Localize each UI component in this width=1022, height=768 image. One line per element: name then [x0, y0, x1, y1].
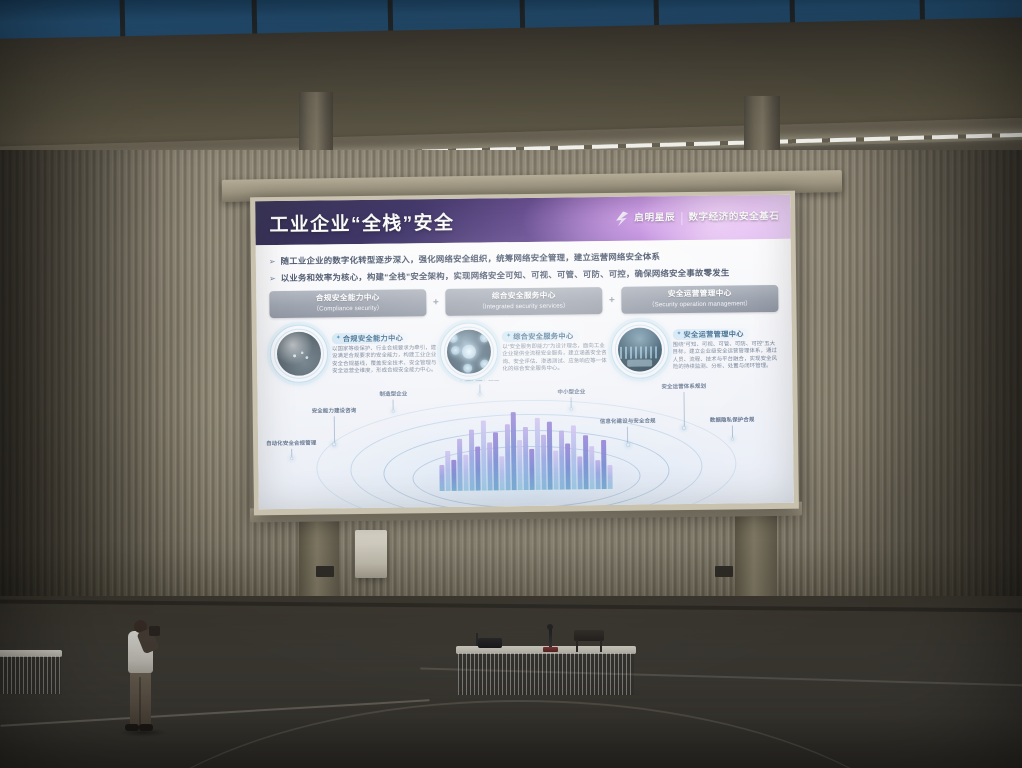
bullet-arrow-icon: ➢: [269, 273, 276, 285]
city-pin-label: 自动化安全合规管理: [266, 441, 316, 449]
pin-stem: [334, 416, 335, 442]
cluster-description: 以“安全服务即能力”为设计理念，面向工业企业提供全流程安全服务，建立涵盖安全咨询…: [502, 342, 609, 374]
pin-dot: [392, 410, 395, 413]
city-building: [445, 451, 450, 491]
city-building: [535, 418, 541, 490]
floor-sign-right: [715, 566, 733, 577]
microphone-small: [476, 633, 478, 646]
brand-divider: [681, 212, 682, 225]
city-pin: 安全运营体系规划: [661, 384, 706, 431]
slide-title: 工业企业“全栈”安全: [269, 207, 454, 236]
cluster-text-block: ✦ 合规安全能力中心 以国家等级保护、行业合规要求为牵引，建设满足合规要求的安全…: [332, 323, 439, 376]
speaker-cabinet: [355, 530, 387, 578]
pillar-title-en: （Security operation management）: [623, 299, 776, 310]
network-node: [480, 333, 489, 342]
chair-leg: [600, 640, 602, 652]
cluster-label-text: 安全运营管理中心: [683, 329, 743, 339]
pin-dot: [626, 443, 630, 447]
cluster-text-block: ✦ 综合安全服务中心 以“安全服务即能力”为设计理念，面向工业企业提供全流程安全…: [502, 321, 609, 374]
table-skirt: [0, 656, 61, 694]
projection-screen-frame: 工业企业“全栈”安全 启明星辰 数字经济的安全基石 ➢ 随工业企业的数字化转型逐…: [250, 191, 799, 516]
city-pin-label: 制造型企业: [379, 391, 407, 398]
city-pin: 安全能力建设咨询: [312, 408, 357, 447]
pin-stem: [627, 427, 628, 443]
pin-stem: [571, 397, 572, 407]
chair-leg: [576, 640, 578, 652]
pillar-title-en: （Integrated security services）: [447, 301, 600, 312]
pillar-title-cn: 安全运营管理中心: [623, 288, 776, 300]
bullet-list: ➢ 随工业企业的数字化转型逐步深入，强化网络安全组织，统筹网络安全管理，建立运营…: [269, 249, 778, 285]
city-pin: 自动化安全合规管理: [266, 441, 317, 461]
city-building: [505, 424, 511, 490]
city-building: [601, 440, 607, 489]
projection-screen: 工业企业“全栈”安全 启明星辰 数字经济的安全基石 ➢ 随工业企业的数字化转型逐…: [255, 195, 794, 510]
pin-dot: [570, 407, 573, 410]
city-pin-label: 数据隐私保护合规: [710, 417, 755, 425]
venustech-logo-icon: [615, 211, 628, 226]
person-shoe: [125, 724, 139, 731]
city-building: [559, 431, 565, 490]
city-building: [577, 456, 582, 489]
city-building: [523, 427, 529, 490]
pin-dot: [731, 437, 734, 440]
city-skyline: [407, 403, 644, 492]
city-building: [517, 440, 523, 490]
orb-visual-network: [447, 329, 492, 374]
cluster-label-text: 综合安全服务中心: [513, 331, 573, 341]
microphone-head-icon: [547, 624, 553, 630]
cluster-label-pill: ✦ 合规安全能力中心: [332, 332, 409, 344]
city-building: [487, 442, 493, 490]
person-shoe: [139, 724, 153, 731]
city-building: [607, 465, 612, 489]
presenter-table: [456, 646, 636, 694]
city-building: [511, 412, 517, 490]
pillar-box-operations: 安全运营管理中心 （Security operation management）: [621, 285, 778, 314]
city-building: [589, 446, 595, 489]
city-building: [571, 425, 577, 489]
pin-stem: [291, 449, 292, 457]
cluster-services: ✦ 综合安全服务中心 以“安全服务即能力”为设计理念，面向工业企业提供全流程安全…: [440, 321, 609, 381]
microphone-base: [543, 647, 558, 652]
city-building: [493, 432, 499, 490]
city-pin-label: 安全能力建设咨询: [312, 408, 357, 416]
city-building: [475, 447, 481, 491]
pillar-title-cn: 综合安全服务中心: [447, 290, 600, 302]
cluster-label-pill: ✦ 安全运营管理中心: [672, 328, 749, 340]
city-building: [481, 420, 487, 490]
city-building: [529, 449, 535, 490]
camera-icon: [149, 626, 160, 636]
city-pin: 数据隐私保护合规: [710, 417, 755, 441]
cluster-description: 围绕“可知、可视、可管、可防、可控”五大目标，建立企业级安全运营管理体系，通过人…: [673, 340, 780, 372]
cluster-description: 以国家等级保护、行业合规要求为牵引，建设满足合规要求的安全能力，构建工业企业安全…: [332, 345, 439, 377]
network-core-node: [462, 345, 476, 359]
city-pin-label: 安全运营体系规划: [661, 384, 706, 392]
city-building: [547, 422, 553, 490]
network-node: [463, 364, 472, 373]
brand-tagline-cn: 数字经济的安全基石: [688, 212, 779, 223]
table-skirt: [458, 653, 634, 695]
city-building: [595, 460, 600, 489]
pin-stem: [393, 400, 394, 410]
bullet-text: 以业务和效率为核心，构建“全栈”安全架构，实现网络安全可知、可视、可管、可防、可…: [281, 266, 730, 283]
microphone-stem: [549, 628, 552, 649]
pin-dot: [290, 457, 293, 460]
cluster-compliance: ✦ 合规安全能力中心 以国家等级保护、行业合规要求为牵引，建设满足合规要求的安全…: [270, 323, 439, 383]
photo-scene: 工业企业“全栈”安全 启明星辰 数字经济的安全基石 ➢ 随工业企业的数字化转型逐…: [0, 0, 1022, 768]
orb-visual-control-room: [617, 327, 662, 372]
brand-name-cn: 启明星辰: [634, 213, 675, 223]
pin-stem: [479, 385, 480, 393]
city-building: [451, 460, 456, 491]
city-building: [469, 430, 475, 491]
pillar-title-en: （Compliance security）: [271, 303, 424, 314]
city-pin-label: 中小型企业: [557, 389, 585, 396]
globe-orb-icon: [270, 324, 329, 383]
slide-header: 工业企业“全栈”安全 启明星辰 数字经济的安全基石: [255, 195, 790, 246]
pin-dot: [682, 426, 686, 430]
city-building: [499, 456, 504, 490]
city-orbit-visual: 大型央企、国企 制造型企业 中小型企业: [257, 377, 793, 510]
laptop: [478, 638, 502, 648]
pillar-title-cn: 合规安全能力中心: [271, 292, 424, 304]
person-legs: [130, 671, 151, 727]
pin-dot: [479, 393, 482, 396]
cluster-label-text: 合规安全能力中心: [343, 333, 403, 343]
person-photographing: [123, 620, 159, 738]
city-pin: 中小型企业: [557, 389, 585, 410]
network-orb-icon: [440, 322, 499, 381]
pillar-box-services: 综合安全服务中心 （Integrated security services）: [445, 287, 602, 316]
city-building: [439, 465, 444, 491]
pin-stem: [732, 425, 733, 437]
bullet-arrow-icon: ➢: [269, 256, 276, 268]
star-icon: ✦: [336, 334, 341, 342]
pillar-box-row: 合规安全能力中心 （Compliance security） + 综合安全服务中…: [269, 285, 778, 318]
bullet-item: ➢ 以业务和效率为核心，构建“全栈”安全架构，实现网络安全可知、可视、可管、可防…: [269, 266, 778, 285]
city-building: [583, 435, 589, 489]
capability-cluster-row: ✦ 合规安全能力中心 以国家等级保护、行业合规要求为牵引，建设满足合规要求的安全…: [270, 319, 780, 383]
control-room-orb-icon: [610, 320, 669, 379]
city-pin-label: 信息化建设与安全合规: [600, 418, 656, 426]
slide-body: ➢ 随工业企业的数字化转型逐步深入，强化网络安全组织，统筹网络安全管理，建立运营…: [256, 239, 794, 510]
city-building: [457, 439, 463, 491]
star-icon: ✦: [676, 330, 681, 338]
pin-stem: [683, 392, 684, 426]
bullet-text: 随工业企业的数字化转型逐步深入，强化网络安全组织，统筹网络安全管理，建立运营网络…: [280, 250, 660, 267]
city-building: [553, 451, 558, 490]
side-table: [0, 650, 62, 694]
brand-lockup: 启明星辰 数字经济的安全基石: [615, 209, 779, 226]
pillar-box-compliance: 合规安全能力中心 （Compliance security）: [269, 289, 426, 318]
cluster-label-pill: ✦ 综合安全服务中心: [502, 330, 579, 342]
plus-connector-icon: +: [430, 297, 441, 308]
city-pin: 制造型企业: [379, 391, 407, 412]
star-icon: ✦: [506, 332, 511, 340]
cluster-operations: ✦ 安全运营管理中心 围绕“可知、可视、可管、可防、可控”五大目标，建立企业级安…: [610, 319, 779, 379]
city-building: [463, 455, 468, 491]
cluster-text-block: ✦ 安全运营管理中心 围绕“可知、可视、可管、可防、可控”五大目标，建立企业级安…: [672, 319, 779, 372]
pin-dot: [332, 442, 336, 446]
chair: [574, 630, 604, 652]
city-building: [541, 435, 547, 490]
network-node: [451, 346, 460, 355]
plus-connector-icon: +: [606, 295, 617, 306]
city-building: [565, 443, 571, 489]
network-node: [449, 334, 458, 343]
bullet-item: ➢ 随工业企业的数字化转型逐步深入，强化网络安全组织，统筹网络安全管理，建立运营…: [269, 249, 778, 268]
city-pin: 信息化建设与安全合规: [600, 418, 656, 447]
floor-sign-left: [316, 566, 334, 577]
